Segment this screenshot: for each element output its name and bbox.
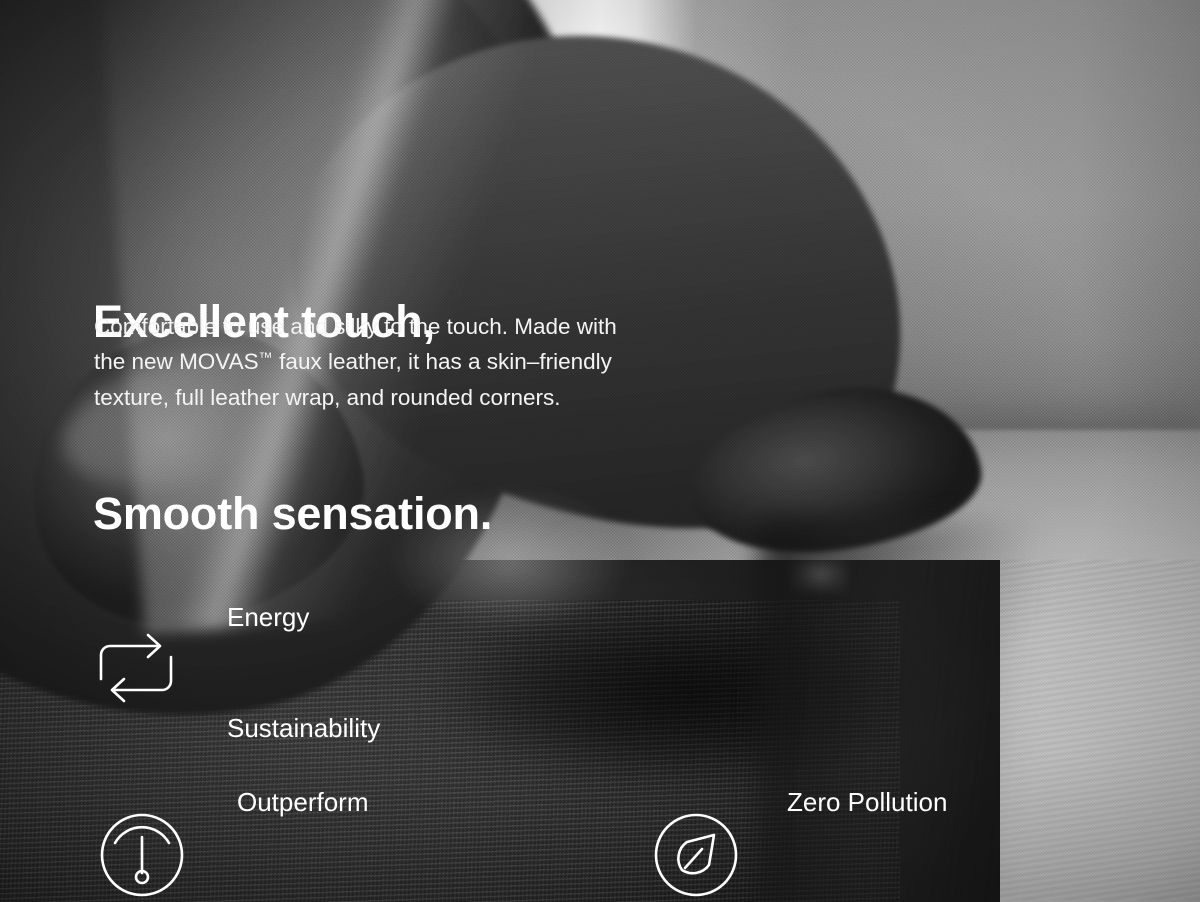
brand-name: MOVAS	[179, 349, 259, 374]
feature-label-line-2: Genuine Leather	[237, 895, 431, 902]
feature-label-outperform-genuine-leather: Outperform Genuine Leather	[237, 710, 431, 902]
feature-item-outperform-genuine-leather: Outperform Genuine Leather	[99, 710, 431, 902]
leaf-circle-icon	[653, 812, 739, 902]
body-line-2: the new MOVAS™ faux leather, it has a sk…	[94, 344, 854, 380]
body-line-3: texture, full leather wrap, and rounded …	[94, 380, 854, 416]
body-copy: Comfortable to use and silky to the touc…	[94, 309, 854, 416]
feature-label-line-2: Process	[787, 895, 947, 902]
recycle-loop-icon	[96, 631, 176, 714]
promo-panel: Excellent touch, Smooth sensation. Comfo…	[0, 0, 1200, 902]
feature-label-zero-pollution-process: Zero Pollution Process	[787, 710, 947, 902]
trademark-symbol: ™	[259, 349, 273, 365]
feature-item-zero-pollution-process: Zero Pollution Process	[653, 710, 947, 902]
gauge-icon	[99, 812, 185, 902]
feature-label-line-1: Energy	[227, 599, 380, 636]
feature-label-line-1: Outperform	[237, 784, 431, 821]
panel-content: Excellent touch, Smooth sensation. Comfo…	[0, 0, 1200, 902]
feature-label-line-1: Zero Pollution	[787, 784, 947, 821]
body-line-1: Comfortable to use and silky to the touc…	[94, 309, 854, 345]
